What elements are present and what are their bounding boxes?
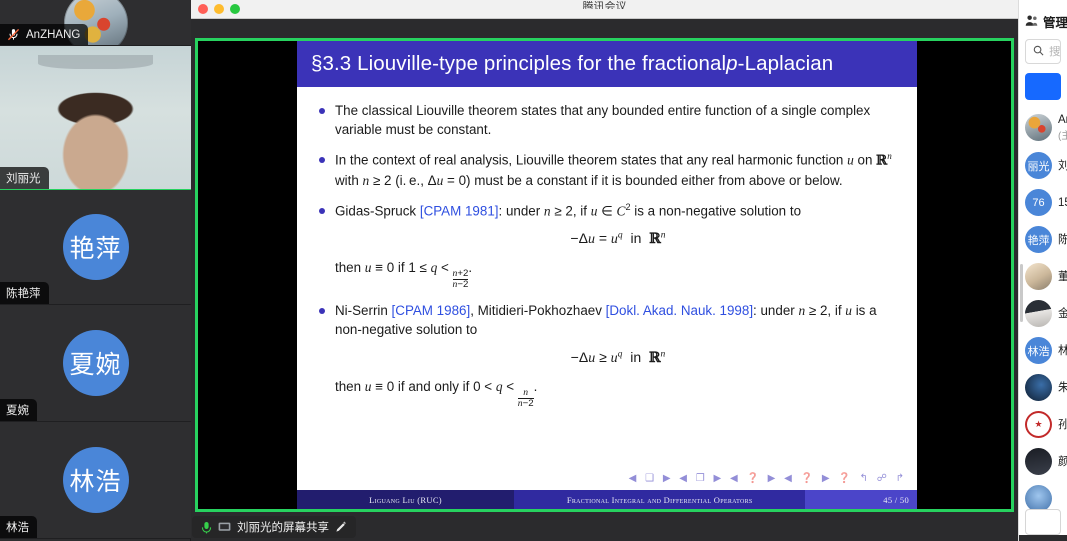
participant-name-tag: 林浩 <box>0 516 37 538</box>
bullet-conclusion: then u ≡ 0 if and only if 0 < q < nn−2. <box>335 377 901 409</box>
video-tile-chenyanping[interactable]: 艳萍 陈艳萍 <box>0 190 191 305</box>
citation-link[interactable]: [CPAM 1981] <box>420 203 499 218</box>
participant-name: AnZHANG <box>1058 113 1067 127</box>
participant-name: 孙… <box>1058 418 1067 432</box>
window-title: 腾讯会议 <box>191 1 1018 9</box>
avatar: 夏婉 <box>63 330 129 396</box>
list-item[interactable]: 艳萍 陈艳萍 <box>1019 221 1067 258</box>
participant-name: 陈艳萍 <box>1058 233 1067 247</box>
avatar: 艳萍 <box>1025 226 1052 253</box>
avatar: 76 <box>1025 189 1052 216</box>
search-icon <box>1033 43 1044 61</box>
participant-name-tag: 陈艳萍 <box>0 282 49 304</box>
window-titlebar: 腾讯会议 <box>191 0 1018 19</box>
microphone-icon[interactable] <box>201 521 212 534</box>
bullet-conclusion: then u ≡ 0 if 1 ≤ q < n+2n−2. <box>335 258 901 290</box>
panel-bottom-edge <box>1019 535 1067 541</box>
participant-name: 颜… <box>1058 455 1067 469</box>
avatar <box>1025 374 1052 401</box>
list-item[interactable]: 丽光 刘丽光 <box>1019 147 1067 184</box>
list-item[interactable]: 朱… <box>1019 369 1067 406</box>
participants-panel: 管理成员 AnZHANG (主持人) 丽光 刘丽光 76 <box>1018 0 1067 541</box>
participant-name-tag: 刘丽光 <box>0 167 49 189</box>
slide-title: §3.3 Liouville-type principles for the f… <box>297 41 917 87</box>
participant-filmstrip: AnZHANG 刘丽光 艳萍 陈艳萍 夏婉 夏婉 <box>0 0 191 541</box>
participant-name: 金… <box>1058 307 1067 321</box>
share-badge-label: 刘丽光的屏幕共享 <box>237 519 329 535</box>
search-box[interactable] <box>1025 39 1061 64</box>
participant-name: AnZHANG <box>26 29 80 41</box>
microphone-muted-icon <box>6 27 21 42</box>
slide-title-italic: p <box>726 52 738 76</box>
screen-share-icon[interactable] <box>218 522 231 533</box>
citation-link[interactable]: [CPAM 1986] <box>392 303 471 318</box>
participant-info: AnZHANG (主持人) <box>1058 113 1067 142</box>
avatar: ★ <box>1025 411 1052 438</box>
bullet-lead-2: , Mitidieri-Pokhozhaev <box>470 303 605 318</box>
participant-name: 15… <box>1058 196 1067 210</box>
avatar <box>1025 300 1052 327</box>
avatar: 林浩 <box>1025 337 1052 364</box>
meeting-window: AnZHANG 刘丽光 艳萍 陈艳萍 夏婉 夏婉 <box>0 0 1067 541</box>
list-item[interactable]: 金… <box>1019 295 1067 332</box>
panel-title: 管理成员 <box>1043 12 1067 31</box>
avatar <box>1025 448 1052 475</box>
participant-name-tag: AnZHANG <box>0 24 88 45</box>
participants-icon <box>1025 14 1038 30</box>
panel-scrollbar[interactable] <box>1020 264 1023 322</box>
bullet-item: In the context of real analysis, Liouvil… <box>317 150 901 190</box>
participant-name: 夏婉 <box>6 402 29 418</box>
video-tile-anzhang[interactable]: AnZHANG <box>0 0 191 46</box>
footer-talk-title: Fractional Integral and Differential Ope… <box>514 490 805 509</box>
participant-name-tag: 夏婉 <box>0 399 37 421</box>
participant-name: 刘丽光 <box>6 170 41 186</box>
participant-name: 朱… <box>1058 381 1067 395</box>
pencil-icon[interactable] <box>335 521 347 533</box>
slide-title-suffix: -Laplacian <box>738 52 834 76</box>
presentation-slide: §3.3 Liouville-type principles for the f… <box>297 41 917 509</box>
participant-list: AnZHANG (主持人) 丽光 刘丽光 76 15… 艳萍 陈艳萍 董… <box>1019 106 1067 517</box>
footer-page-number: 45 / 50 <box>805 490 917 509</box>
participant-name: 陈艳萍 <box>6 285 41 301</box>
participant-name: 林浩 <box>6 519 29 535</box>
avatar: 艳萍 <box>63 214 129 280</box>
panel-footer <box>1019 509 1067 535</box>
list-item[interactable]: ★ 孙… <box>1019 406 1067 443</box>
equation: −Δu = uq in ℝn <box>335 229 901 250</box>
panel-footer-button[interactable] <box>1025 509 1061 535</box>
participant-name: 刘丽光 <box>1058 159 1067 173</box>
list-item[interactable]: 颜… <box>1019 443 1067 480</box>
slide-body: The classical Liouville theorem states t… <box>297 87 917 490</box>
panel-header: 管理成员 <box>1019 0 1067 39</box>
shared-screen-stage: 腾讯会议 §3.3 Liouville-type principles for … <box>191 0 1018 541</box>
slide-footer: Liguang Liu (RUC) Fractional Integral an… <box>297 490 917 509</box>
bullet-lead: Gidas-Spruck <box>335 203 420 218</box>
bullet-item: Ni-Serrin [CPAM 1986], Mitidieri-Pokhozh… <box>317 301 901 409</box>
video-tile-liuliguang[interactable]: 刘丽光 <box>0 46 191 190</box>
list-item[interactable]: 董… <box>1019 258 1067 295</box>
avatar: 林浩 <box>63 447 129 513</box>
avatar <box>1025 114 1052 141</box>
screen-share-badge[interactable]: 刘丽光的屏幕共享 <box>192 516 356 538</box>
citation-link-2[interactable]: [Dokl. Akad. Nauk. 1998] <box>606 303 753 318</box>
bullet-lead: Ni-Serrin <box>335 303 392 318</box>
list-item[interactable]: 76 15… <box>1019 184 1067 221</box>
avatar <box>1025 263 1052 290</box>
beamer-navigation-icons[interactable]: ◀ ❑ ▶ ◀ ❐ ▶ ◀ ❓ ▶ ◀ ❓ ▶ ❓ ↰ ☍ ↱ <box>629 472 907 486</box>
primary-action-button[interactable] <box>1025 73 1061 100</box>
bullet-item: The classical Liouville theorem states t… <box>317 101 901 139</box>
bullet-item: Gidas-Spruck [CPAM 1981]: under n ≥ 2, i… <box>317 201 901 290</box>
equation: −Δu ≥ uq in ℝn <box>335 348 901 369</box>
list-item[interactable]: AnZHANG (主持人) <box>1019 108 1067 147</box>
bullet-text: The classical Liouville theorem states t… <box>335 103 870 137</box>
footer-author: Liguang Liu (RUC) <box>297 490 514 509</box>
shared-content-frame: §3.3 Liouville-type principles for the f… <box>195 38 1014 512</box>
participant-name: 林浩 <box>1058 344 1067 358</box>
avatar: 丽光 <box>1025 152 1052 179</box>
bullet-list: The classical Liouville theorem states t… <box>317 101 901 409</box>
participant-name: 董… <box>1058 270 1067 284</box>
list-item[interactable]: 林浩 林浩 <box>1019 332 1067 369</box>
search-input[interactable] <box>1049 46 1060 58</box>
video-tile-linhao[interactable]: 林浩 林浩 <box>0 422 191 539</box>
video-tile-xiawan[interactable]: 夏婉 夏婉 <box>0 305 191 422</box>
participant-role: (主持人) <box>1058 127 1067 142</box>
slide-title-prefix: §3.3 Liouville-type principles for the f… <box>311 52 726 76</box>
